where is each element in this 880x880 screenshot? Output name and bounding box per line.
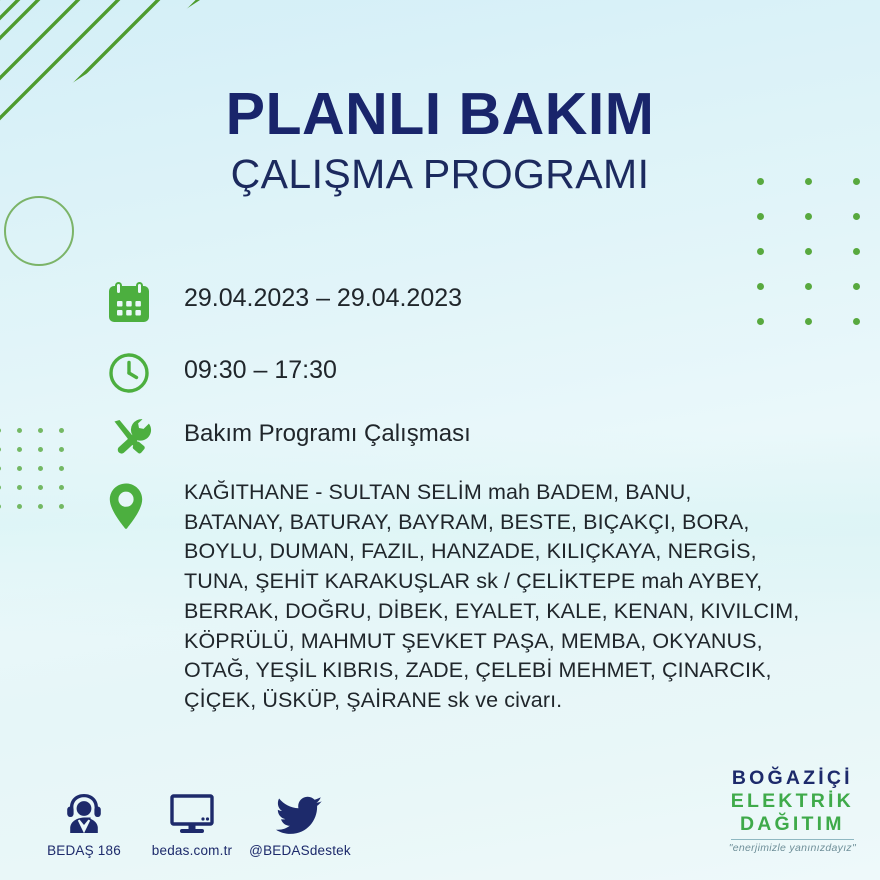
circle-outline-decoration [4,196,74,266]
outage-info-list: 29.04.2023 – 29.04.2023 09:30 – 17:30 [108,278,808,716]
info-row-date: 29.04.2023 – 29.04.2023 [108,278,808,350]
date-range-text: 29.04.2023 – 29.04.2023 [184,278,462,313]
info-row-time: 09:30 – 17:30 [108,350,808,414]
page-title: PLANLI BAKIM [0,84,880,146]
contact-website[interactable]: bedas.com.tr [138,784,246,858]
headset-support-icon [30,784,138,836]
bedas-logo: BOĞAZİÇİ ELEKTRİK DAĞITIM "enerjimizle y… [729,767,856,855]
monitor-icon [138,784,246,836]
contact-links: BEDAŞ 186 bedas.com.tr @BEDASdestek [30,784,354,858]
page-footer: BEDAŞ 186 bedas.com.tr @BEDASdestek [0,758,880,868]
contact-twitter-label: @BEDASdestek [246,843,354,858]
logo-tagline: "enerjimizle yanınızdayız" [729,842,856,854]
tools-icon [108,414,184,458]
contact-website-label: bedas.com.tr [138,843,246,858]
page-header: PLANLI BAKIM ÇALIŞMA PROGRAMI [0,84,880,198]
contact-phone[interactable]: BEDAŞ 186 [30,784,138,858]
work-type-text: Bakım Programı Çalışması [184,414,471,448]
location-address-text: KAĞITHANE - SULTAN SELİM mah BADEM, BANU… [184,478,799,716]
logo-line-bogazici: BOĞAZİÇİ [729,767,856,790]
time-range-text: 09:30 – 17:30 [184,350,337,385]
dot-grid-left-decoration [0,428,80,523]
contact-twitter[interactable]: @BEDASdestek [246,784,354,858]
info-row-work-type: Bakım Programı Çalışması [108,414,808,478]
clock-icon [108,350,184,394]
page-subtitle: ÇALIŞMA PROGRAMI [0,152,880,198]
logo-divider [731,839,854,841]
contact-phone-label: BEDAŞ 186 [30,843,138,858]
logo-line-elektrik: ELEKTRİK [729,790,856,813]
twitter-bird-icon [246,784,354,836]
location-pin-icon [108,478,184,532]
calendar-icon [108,278,184,324]
logo-line-dagitim: DAĞITIM [729,813,856,836]
info-row-location: KAĞITHANE - SULTAN SELİM mah BADEM, BANU… [108,478,808,716]
